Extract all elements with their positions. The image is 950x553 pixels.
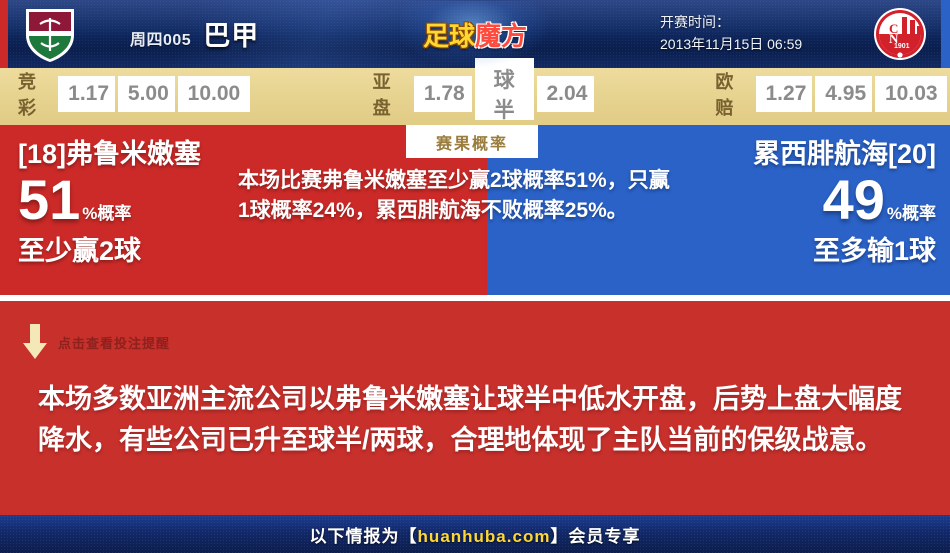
- home-outcome-label: 至少赢2球: [18, 229, 201, 268]
- away-outcome-label: 至多输1球: [753, 229, 936, 268]
- footer-membership-notice: 以下情报为【huanhuba.com】会员专享: [310, 522, 641, 547]
- odds-cell-oupei-draw[interactable]: 4.95: [815, 76, 872, 112]
- home-percent-suffix: %概率: [82, 199, 131, 224]
- tab-result-probability[interactable]: 赛果概率: [406, 125, 538, 158]
- odds-cell-yapan-away[interactable]: 2.04: [537, 76, 595, 112]
- odds-cell-jingcai-draw[interactable]: 5.00: [118, 76, 175, 112]
- analysis-panel: 点击查看投注提醒 本场多数亚洲主流公司以弗鲁米嫩塞让球半中低水开盘，后势上盘大幅…: [0, 301, 950, 515]
- footer-suffix: 】会员专享: [550, 527, 640, 546]
- brand-text: 足球魔方: [423, 16, 527, 53]
- analysis-body-text: 本场多数亚洲主流公司以弗鲁米嫩塞让球半中低水开盘，后势上盘大幅度降水，有些公司已…: [38, 379, 918, 461]
- match-round: 周四005: [130, 26, 191, 50]
- kickoff-label: 开赛时间：: [660, 12, 802, 34]
- probability-summary-text: 本场比赛弗鲁米嫩塞至少赢2球概率51%，只赢1球概率24%，累西腓航海不败概率2…: [238, 166, 680, 227]
- footer-prefix: 以下情报为【: [310, 527, 418, 546]
- odds-cell-yapan-home[interactable]: 1.78: [414, 76, 472, 112]
- footer-site-link[interactable]: huanhuba.com: [418, 527, 551, 546]
- footer-bar: 以下情报为【huanhuba.com】会员专享: [0, 515, 950, 553]
- match-meta: 周四005 巴甲: [130, 14, 259, 53]
- home-percent-value: 51: [18, 172, 80, 228]
- odds-label-oupei: 欧赔: [715, 68, 749, 120]
- odds-bar: 竞彩 1.17 5.00 10.00 亚盘 1.78 球半 2.04 欧赔 1.…: [0, 68, 950, 120]
- home-percent-row: 51 %概率: [18, 172, 201, 228]
- betting-hint-label: 点击查看投注提醒: [58, 333, 170, 352]
- brand-text-part2: 魔方: [475, 21, 527, 51]
- probability-panel: 赛果概率 [18]弗鲁米嫩塞 51 %概率 至少赢2球 累西腓航海[20] 49…: [0, 120, 950, 295]
- betting-hint-row[interactable]: 点击查看投注提醒: [22, 323, 170, 361]
- header-bar: 周四005 巴甲 足球魔方 开赛时间： 2013年11月15日 06:59: [0, 0, 950, 68]
- odds-group-oupei: 欧赔 1.27 4.95 10.03: [715, 68, 950, 120]
- tab-result-probability-label: 赛果概率: [436, 130, 508, 154]
- odds-label-yapan: 亚盘: [373, 68, 408, 120]
- away-team-name: 累西腓航海[20]: [753, 140, 936, 170]
- odds-group-jingcai: 竞彩 1.17 5.00 10.00: [18, 68, 253, 120]
- header-right-blue-edge: [941, 0, 950, 68]
- odds-cell-jingcai-away[interactable]: 10.00: [178, 76, 250, 112]
- match-league: 巴甲: [203, 14, 259, 53]
- fluminense-crest-icon: [22, 5, 78, 63]
- odds-cell-jingcai-home[interactable]: 1.17: [58, 76, 115, 112]
- brand-logo: 足球魔方: [403, 4, 547, 64]
- away-percent-row: 49 %概率: [753, 172, 936, 228]
- away-team-block: 累西腓航海[20] 49 %概率 至多输1球: [753, 140, 936, 268]
- brand-text-part1: 足球: [423, 21, 475, 51]
- kickoff-info: 开赛时间： 2013年11月15日 06:59: [660, 12, 802, 55]
- nautico-crest-icon: C N 1901: [872, 6, 928, 62]
- kickoff-value: 2013年11月15日 06:59: [660, 34, 802, 56]
- odds-cell-oupei-away[interactable]: 10.03: [875, 76, 947, 112]
- away-percent-value: 49: [823, 172, 885, 228]
- home-team-name: [18]弗鲁米嫩塞: [18, 140, 201, 170]
- match-preview-card: 周四005 巴甲 足球魔方 开赛时间： 2013年11月15日 06:59: [0, 0, 950, 553]
- svg-text:1901: 1901: [894, 43, 910, 50]
- header-left-red-edge: [0, 0, 8, 68]
- arrow-down-icon: [22, 323, 48, 361]
- odds-label-jingcai: 竞彩: [18, 68, 52, 120]
- odds-cell-oupei-home[interactable]: 1.27: [756, 76, 813, 112]
- away-percent-suffix: %概率: [887, 199, 936, 224]
- home-team-block: [18]弗鲁米嫩塞 51 %概率 至少赢2球: [18, 140, 201, 268]
